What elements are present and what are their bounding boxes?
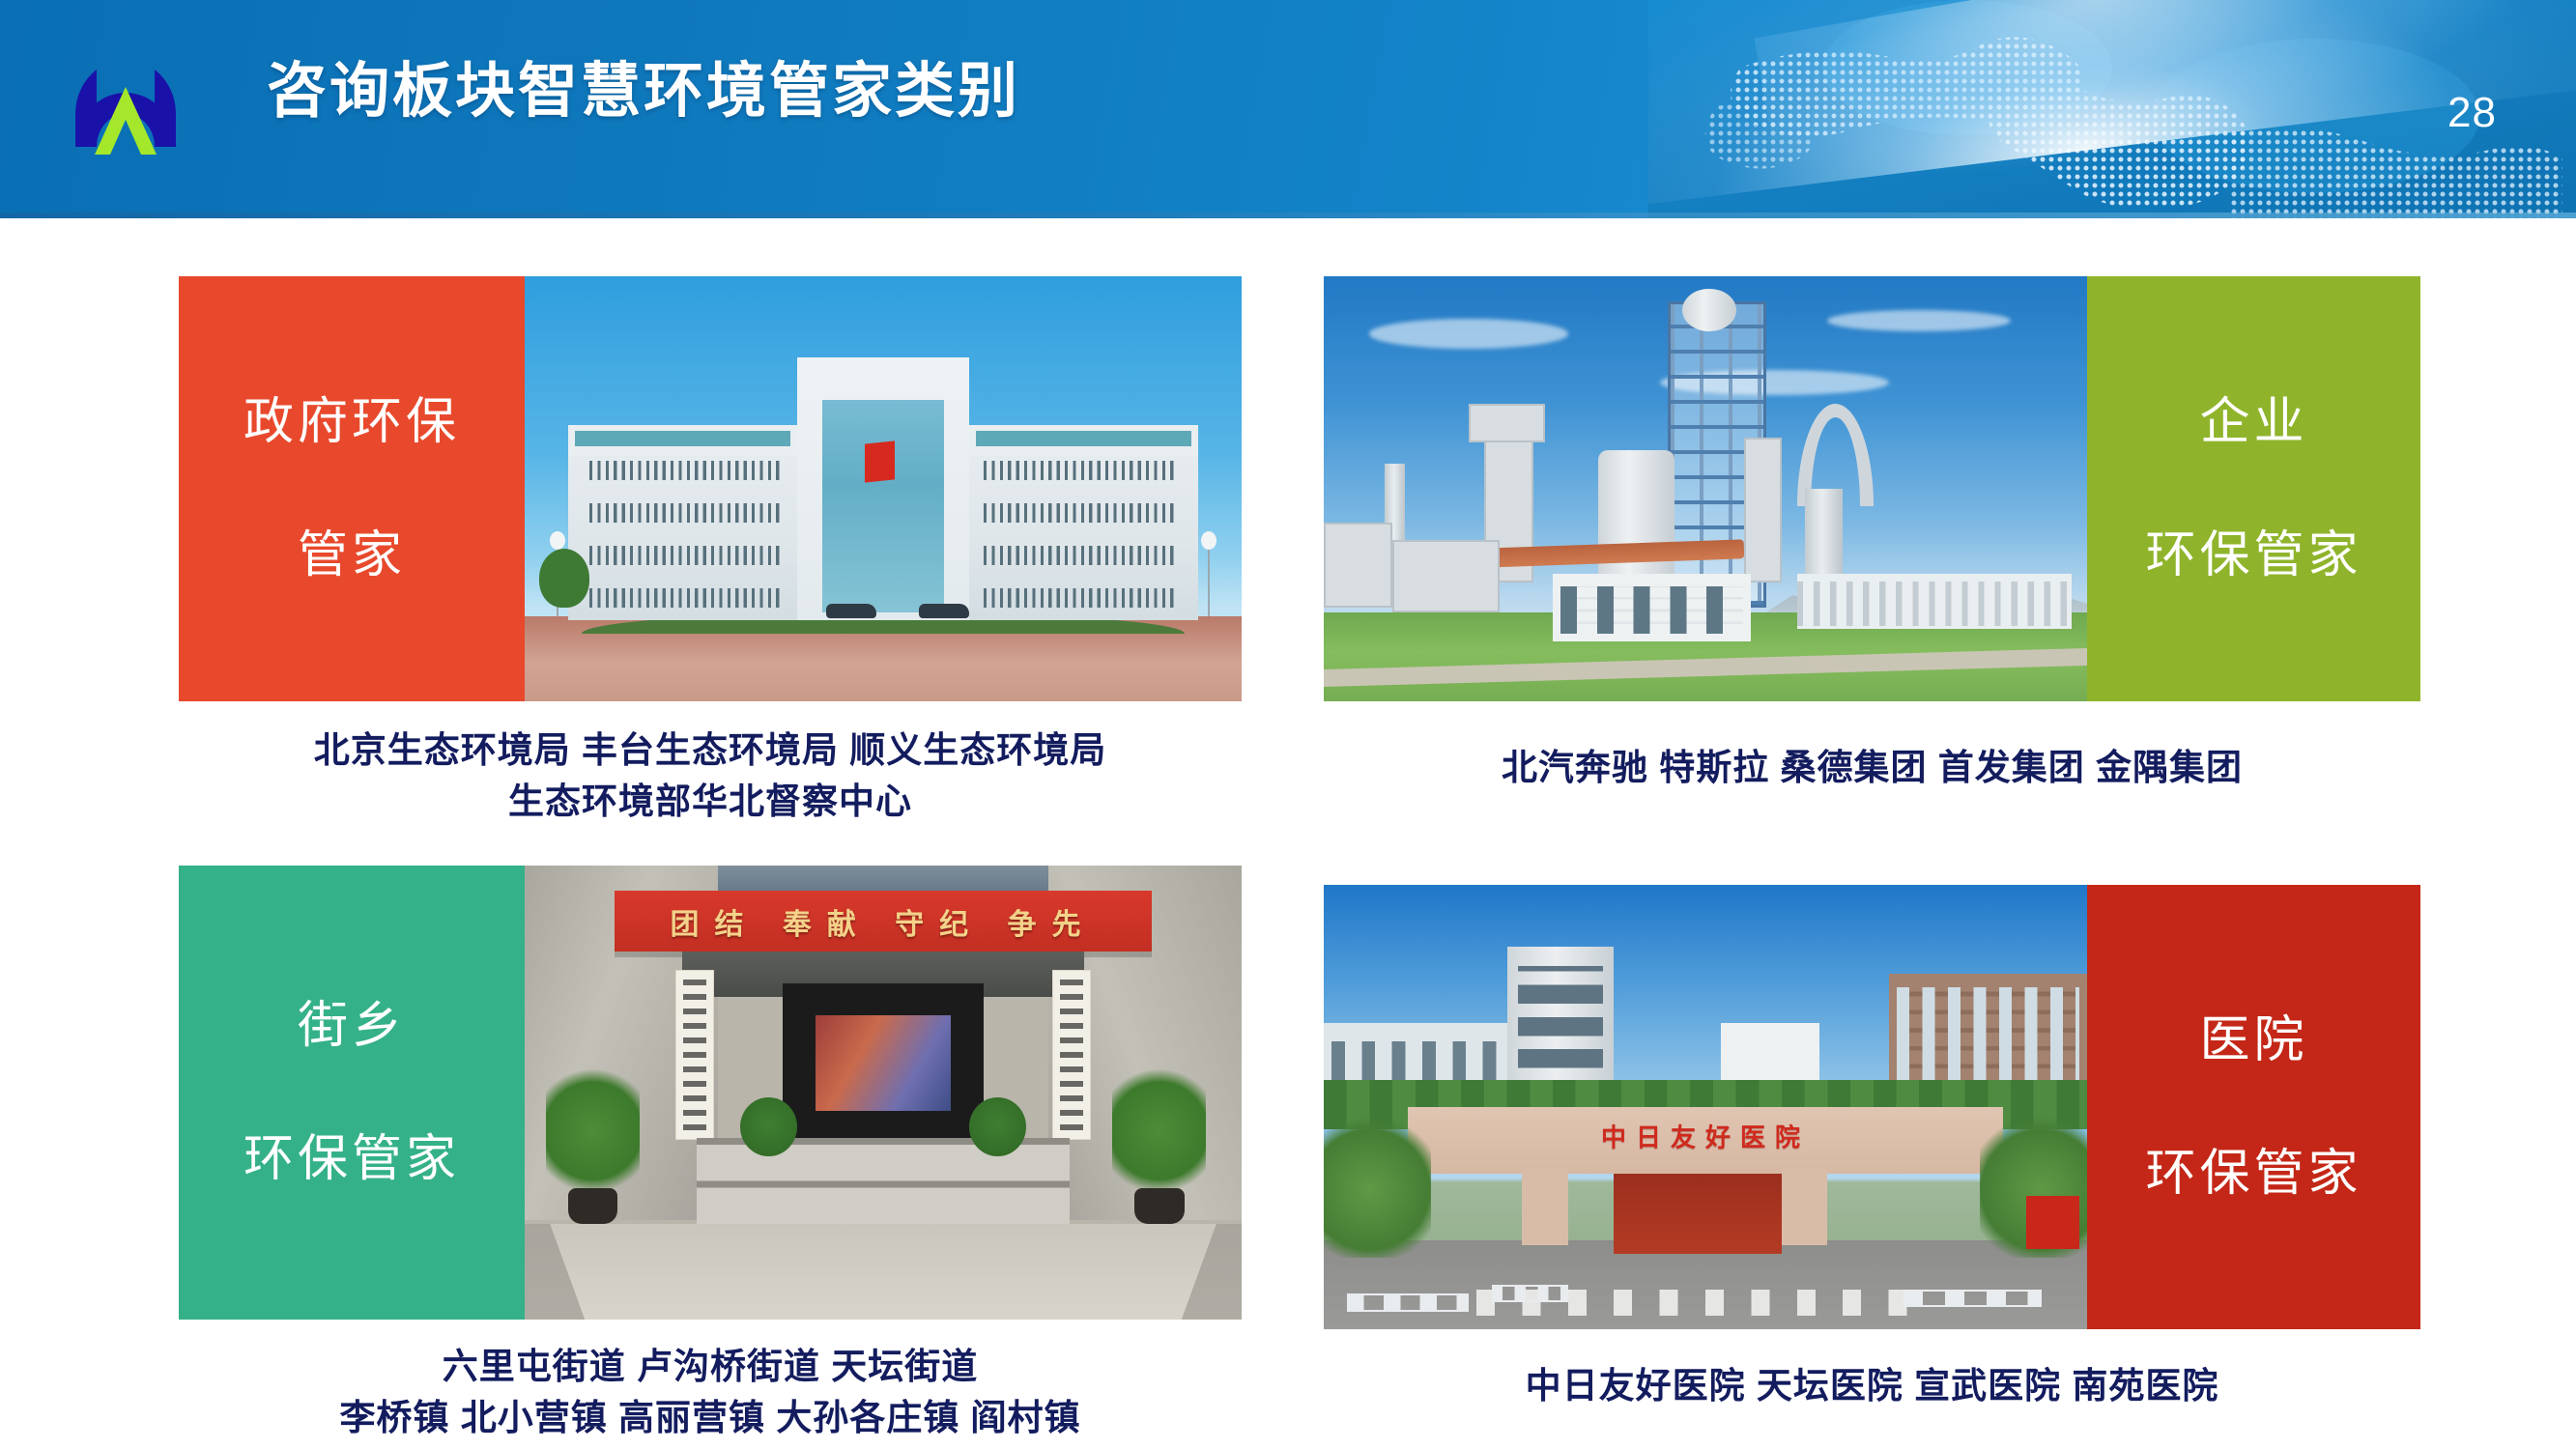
company-arch-logo-icon	[60, 31, 191, 162]
panel-label-line2: 环保管家	[2145, 526, 2361, 584]
caption-line: 六里屯街道 卢沟桥街道 天坛街道	[179, 1341, 1242, 1392]
hospital-gate-text: 中日友好医院	[1408, 1119, 2003, 1154]
street-office-entrance-photo: 团结 奉献 守纪 争先	[525, 866, 1242, 1320]
caption-hospital: 中日友好医院 天坛医院 宣武医院 南苑医院	[1324, 1360, 2420, 1411]
panel-label-line2: 管家	[298, 526, 406, 584]
quadrant-enterprise: 企业 环保管家 北汽奔驰 特斯拉 桑德集团 首发集团 金隅集团	[1324, 276, 2420, 701]
panel-government-label: 政府环保 管家	[179, 276, 525, 701]
panel-label-line1: 政府环保	[243, 393, 460, 451]
cement-plant-photo	[1324, 276, 2087, 701]
panel-label-line1: 医院	[2199, 1011, 2307, 1069]
globe-graphic	[1648, 0, 2576, 218]
panel-label-line1: 街乡	[298, 997, 406, 1055]
quadrant-subdistrict: 街乡 环保管家 团结 奉献 守纪 争先	[179, 866, 1242, 1320]
caption-line: 北汽奔驰 特斯拉 桑德集团 首发集团 金隅集团	[1324, 742, 2420, 793]
caption-line: 李桥镇 北小营镇 高丽营镇 大孙各庄镇 阎村镇	[179, 1392, 1242, 1443]
quadrant-government: 政府环保 管家	[179, 276, 1242, 701]
caption-enterprise: 北汽奔驰 特斯拉 桑德集团 首发集团 金隅集团	[1324, 742, 2420, 793]
caption-line: 生态环境部华北督察中心	[179, 776, 1242, 827]
government-building-photo	[525, 276, 1242, 701]
panel-enterprise-label: 企业 环保管家	[2087, 276, 2420, 701]
panel-hospital-label: 医院 环保管家	[2087, 885, 2420, 1329]
caption-line: 中日友好医院 天坛医院 宣武医院 南苑医院	[1324, 1360, 2420, 1411]
entrance-banner-text: 团结 奉献 守纪 争先	[615, 900, 1153, 943]
panel-subdistrict-label: 街乡 环保管家	[179, 866, 525, 1320]
panel-label-line2: 环保管家	[2145, 1145, 2361, 1203]
panel-label-line1: 企业	[2199, 393, 2307, 451]
hospital-gate-sign: 中日友好医院	[1408, 1107, 2003, 1174]
caption-government: 北京生态环境局 丰台生态环境局 顺义生态环境局 生态环境部华北督察中心	[179, 724, 1242, 827]
page-title: 咨询板块智慧环境管家类别	[267, 56, 1020, 128]
content-board: 政府环保 管家	[0, 218, 2576, 1449]
caption-subdistrict: 六里屯街道 卢沟桥街道 天坛街道 李桥镇 北小营镇 高丽营镇 大孙各庄镇 阎村镇	[179, 1341, 1242, 1443]
slide-header: 咨询板块智慧环境管家类别 28	[0, 0, 2576, 218]
entrance-banner: 团结 奉献 守纪 争先	[615, 891, 1153, 952]
quadrant-hospital: 中日友好医院 医院 环保管家 中日友好医院 天坛医院 宣武医院 南苑医院	[1324, 885, 2420, 1329]
caption-line: 北京生态环境局 丰台生态环境局 顺义生态环境局	[179, 724, 1242, 776]
page-number: 28	[2447, 89, 2497, 137]
panel-label-line2: 环保管家	[243, 1130, 460, 1188]
hospital-gate-photo: 中日友好医院	[1324, 885, 2087, 1329]
